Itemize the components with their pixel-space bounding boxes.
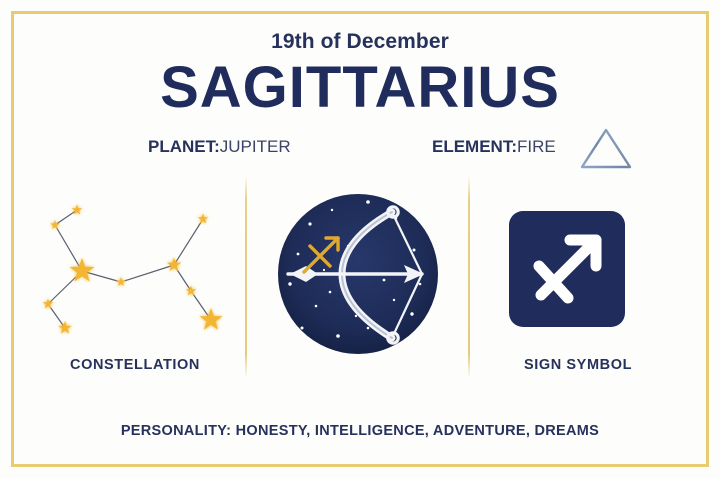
constellation-star xyxy=(58,321,71,334)
page-title: SAGITTARIUS xyxy=(0,58,720,119)
emblem-sky-star xyxy=(393,299,395,301)
planet-attribute: PLANET:JUPITER xyxy=(148,137,291,157)
date-label: 19th of December xyxy=(0,30,720,54)
constellation-line xyxy=(191,291,211,320)
emblem-sky-star xyxy=(329,291,332,294)
sign-symbol-badge xyxy=(508,210,626,333)
emblem-sky-star xyxy=(288,282,291,285)
panel-divider-left xyxy=(245,176,247,378)
attributes-row: PLANET:JUPITER ELEMENT:FIRE xyxy=(0,135,720,161)
constellation-line xyxy=(55,225,82,271)
constellation-label: CONSTELLATION xyxy=(35,357,235,373)
element-attribute: ELEMENT:FIRE xyxy=(432,137,556,157)
element-key: ELEMENT: xyxy=(432,137,517,156)
constellation-line xyxy=(55,210,77,225)
emblem-sky-star xyxy=(323,269,325,271)
fire-element-triangle-icon xyxy=(578,125,634,176)
sign-symbol-label: SIGN SYMBOL xyxy=(468,357,688,373)
constellation-star xyxy=(167,258,181,272)
emblem-sky-star xyxy=(366,200,370,204)
emblem-sky-star xyxy=(308,222,311,225)
emblem-sky-star xyxy=(383,279,386,282)
constellation-line xyxy=(121,265,174,282)
emblem-sky-star xyxy=(297,253,300,256)
emblem-sky-star xyxy=(419,283,422,286)
personality-traits: PERSONALITY: HONESTY, INTELLIGENCE, ADVE… xyxy=(0,423,720,439)
element-value: FIRE xyxy=(517,137,556,156)
panel-divider-right xyxy=(468,176,470,378)
emblem-sky-star xyxy=(331,209,333,211)
emblem-sky-star xyxy=(355,315,357,317)
constellation-star xyxy=(200,308,223,330)
constellation-star xyxy=(116,277,126,286)
planet-value: JUPITER xyxy=(220,137,291,156)
emblem-sky-star xyxy=(413,249,416,252)
constellation-illustration xyxy=(35,192,235,357)
planet-key: PLANET: xyxy=(148,137,220,156)
constellation-star xyxy=(186,286,196,296)
constellation-star xyxy=(70,258,95,282)
zodiac-infographic-card: 19th of December SAGITTARIUS PLANET:JUPI… xyxy=(0,0,720,478)
constellation-star xyxy=(50,220,60,229)
emblem-sky-star xyxy=(410,312,413,315)
constellation-star xyxy=(198,214,208,224)
emblem-sky-star xyxy=(367,327,370,330)
emblem-sky-star xyxy=(301,327,304,330)
emblem-sky-star xyxy=(336,334,340,338)
emblem-sky-star xyxy=(315,305,318,308)
sagittarius-bow-emblem xyxy=(272,188,444,365)
constellation-line xyxy=(174,219,203,265)
